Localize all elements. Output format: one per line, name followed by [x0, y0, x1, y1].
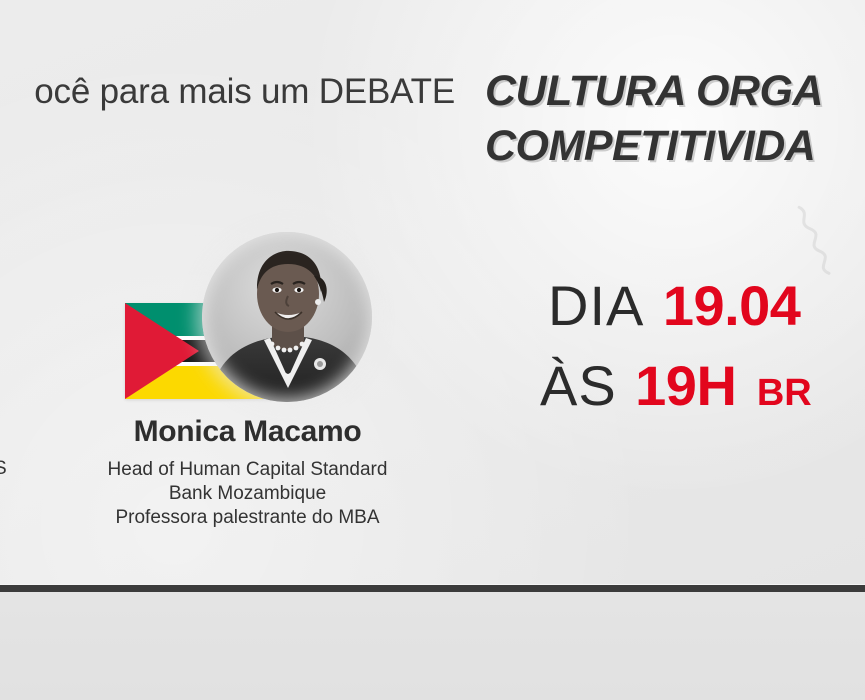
date-label: DIA — [548, 274, 644, 337]
debate-theme-line-2: COMPETITIVIDA — [485, 119, 865, 174]
flag-red-triangle — [125, 303, 199, 399]
event-time-row: ÀS 19H BR — [540, 358, 812, 414]
time-value: 19H — [635, 354, 736, 417]
debate-theme-line-1: CULTURA ORGA — [485, 64, 865, 119]
event-date-row: DIA 19.04 — [548, 278, 800, 334]
speaker-role: Head of Human Capital Standard Bank Moza… — [40, 458, 455, 530]
invite-line: ocê para mais um DEBATE — [0, 72, 455, 112]
speaker-role-line-3: Professora palestrante do MBA — [40, 506, 455, 530]
timezone-badge: BR — [757, 372, 812, 414]
speaker-role-line-2: Bank Mozambique — [40, 482, 455, 506]
avatar — [202, 232, 372, 402]
date-value: 19.04 — [663, 274, 801, 337]
debate-theme: CULTURA ORGA COMPETITIVIDA — [485, 64, 865, 174]
time-label: ÀS — [540, 354, 617, 417]
portrait-illustration-icon — [202, 232, 372, 402]
speaker-role-line-1: Head of Human Capital Standard — [40, 458, 455, 482]
event-poster: ocê para mais um DEBATE CULTURA ORGA COM… — [0, 0, 865, 700]
cropped-text-fragment: S — [0, 458, 7, 480]
speaker-name: Monica Macamo — [40, 415, 455, 449]
sponsor-logo-bar: RH Empresas e COIMBRA BUSINESS SCHOOL is… — [0, 592, 865, 700]
